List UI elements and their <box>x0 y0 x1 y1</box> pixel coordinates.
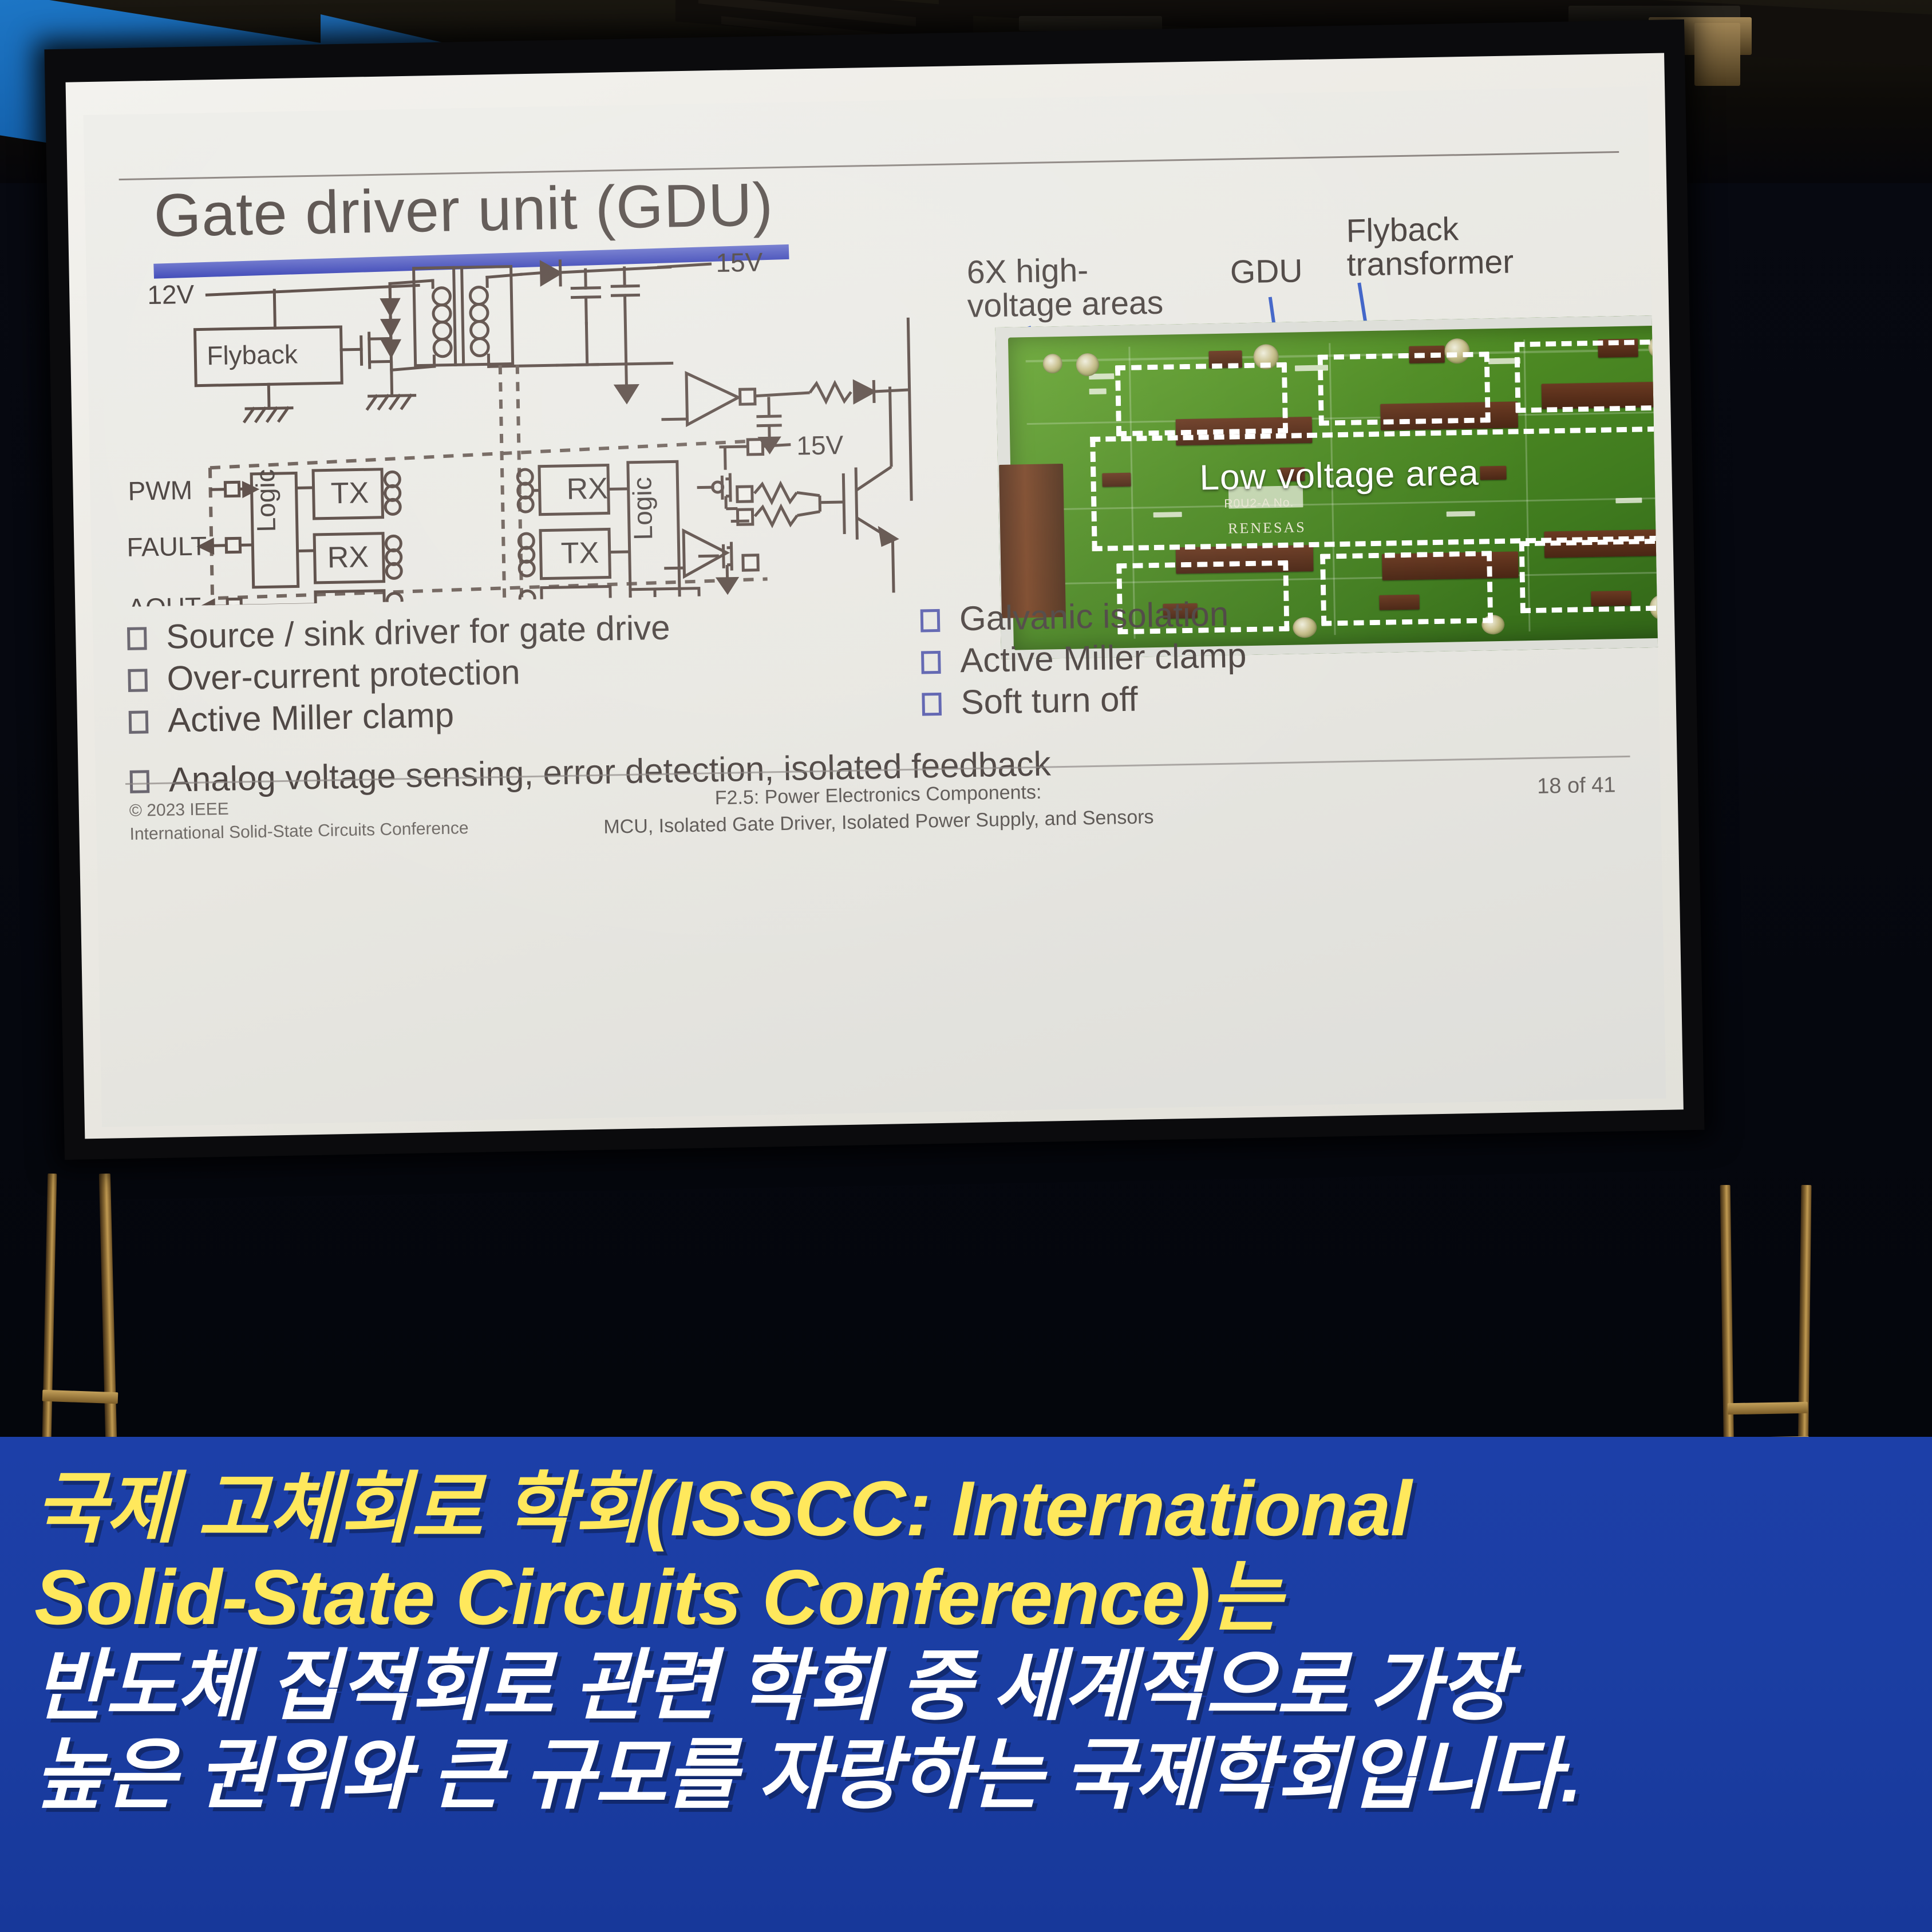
pcb-brand-silkscreen: RENESAS <box>1228 519 1306 537</box>
bullet-text: Soft turn off <box>961 680 1138 722</box>
label-15v-top: 15V <box>716 247 763 277</box>
bullet-text: Active Miller clamp <box>960 636 1247 679</box>
label-aout: AOUT <box>128 592 202 607</box>
callout-gdu: GDU <box>1230 254 1303 290</box>
bullet-column-left: Source / sink driver for gate drive Over… <box>127 603 931 744</box>
high-voltage-area <box>1514 339 1666 413</box>
label-rx1: RX <box>566 472 608 506</box>
checkbox-icon <box>920 609 941 633</box>
bullet-text: Source / sink driver for gate drive <box>166 609 670 656</box>
callout-flyback-transformer: Flyback transformer <box>1346 211 1514 282</box>
pcb-edge-connector <box>999 464 1066 618</box>
list-item: Soft turn off <box>922 671 1609 722</box>
high-voltage-area <box>1115 362 1288 436</box>
high-voltage-area <box>1318 351 1491 425</box>
label-logic-left: Logic <box>250 469 281 532</box>
bullet-text: Over-current protection <box>167 653 520 698</box>
bullet-column-right: Galvanic isolation Active Miller clamp S… <box>920 588 1609 726</box>
ceiling-light <box>1019 16 1162 31</box>
label-flyback: Flyback <box>207 339 298 370</box>
presentation-slide: Gate driver unit (GDU) <box>84 86 1666 1127</box>
caption-line-2: Solid-State Circuits Conference)는 <box>34 1553 1898 1642</box>
pcb-silkscreen <box>1089 389 1107 395</box>
label-pwm: PWM <box>128 475 192 506</box>
stand-rung <box>1728 1402 1808 1415</box>
circuit-diagram: 12V 15V 15V Flyback PWM FAULT AOUT AIN A… <box>120 214 945 607</box>
label-tx3: TX <box>562 595 600 607</box>
caption-line-3: 반도체 집적회로 관련 학회 중 세계적으로 가장 <box>34 1642 1898 1730</box>
callout-high-voltage-areas: 6X high- voltage areas <box>966 252 1163 324</box>
checkbox-icon <box>922 693 942 716</box>
label-rx3: RX <box>328 599 370 607</box>
label-a2d: A2D <box>705 594 758 607</box>
label-tx1: TX <box>330 476 369 510</box>
label-ain: AIN <box>765 592 810 607</box>
caption-banner: 국제 고체회로 학회(ISSCC: International Solid-St… <box>0 1437 1932 1932</box>
checkbox-icon <box>128 669 148 692</box>
checkbox-icon <box>130 770 150 793</box>
caption-line-4: 높은 권위와 큰 규모를 자랑하는 국제학회입니다. <box>34 1730 1898 1819</box>
pcb-mounting-hole <box>1076 353 1099 377</box>
label-fault: FAULT <box>127 531 207 562</box>
label-12v: 12V <box>147 279 195 310</box>
bullet-text: Galvanic isolation <box>959 595 1228 638</box>
projection-screen: Gate driver unit (GDU) <box>44 19 1704 1160</box>
label-logic-right: Logic <box>627 477 658 540</box>
screen-mount-clamp <box>1694 23 1740 86</box>
screen-surface: Gate driver unit (GDU) <box>66 53 1684 1139</box>
label-tx2: TX <box>560 536 599 570</box>
pcb-mounting-hole <box>1043 354 1063 374</box>
title-divider <box>119 151 1619 180</box>
checkbox-icon <box>127 627 147 650</box>
label-rx2: RX <box>327 540 369 574</box>
checkbox-icon <box>921 651 941 674</box>
footer-page-number: 18 of 41 <box>1537 773 1616 799</box>
photo-scene: Gate driver unit (GDU) <box>0 0 1932 1932</box>
low-voltage-area-label: Low voltage area <box>1199 453 1479 499</box>
label-15v-mid: 15V <box>796 430 844 460</box>
caption-line-1: 국제 고체회로 학회(ISSCC: International <box>34 1464 1898 1553</box>
checkbox-icon <box>129 711 149 734</box>
pcb-board-code: R0U2-A No. <box>1224 496 1294 511</box>
bullet-text: Active Miller clamp <box>167 696 454 740</box>
